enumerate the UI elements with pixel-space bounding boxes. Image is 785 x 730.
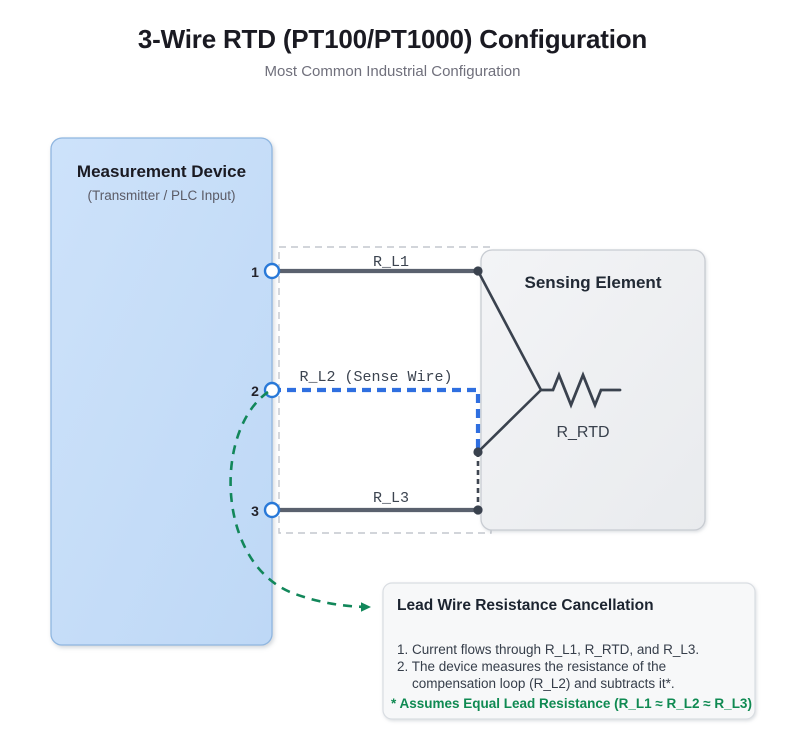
terminal-2-number: 2: [251, 383, 259, 399]
callout-step-2: 2. The device measures the resistance of…: [397, 659, 666, 674]
measurement-device-subtitle: (Transmitter / PLC Input): [87, 188, 235, 203]
diagram-canvas: 3-Wire RTD (PT100/PT1000) Configuration …: [0, 0, 785, 730]
sensing-element-box: Sensing Element: [481, 250, 705, 530]
wire-l1: R_L1: [272, 254, 478, 271]
junction-node-bottom: [473, 505, 482, 514]
junction-node-top: [473, 266, 482, 275]
wire-l3-label: R_L3: [373, 490, 409, 507]
callout-assumption-note: * Assumes Equal Lead Resistance (R_L1 ≈ …: [391, 696, 752, 711]
wire-l1-label: R_L1: [373, 254, 409, 271]
callout-title: Lead Wire Resistance Cancellation: [397, 597, 654, 614]
terminal-1-number: 1: [251, 264, 259, 280]
callout-step-1: 1. Current flows through R_L1, R_RTD, an…: [397, 642, 699, 657]
wire-l2-label: R_L2 (Sense Wire): [299, 369, 452, 386]
callout-box: Lead Wire Resistance Cancellation 1. Cur…: [383, 583, 755, 719]
rtd-resistor-label: R_RTD: [556, 424, 609, 441]
junction-node-mid: [473, 447, 482, 456]
terminal-3-number: 3: [251, 503, 259, 519]
measurement-device-title: Measurement Device: [77, 162, 246, 181]
wire-l3: R_L3: [272, 490, 478, 510]
rtd-wiring-diagram: Measurement Device (Transmitter / PLC In…: [0, 0, 785, 730]
measurement-device-box: Measurement Device (Transmitter / PLC In…: [51, 138, 272, 645]
wire-l2-sense: R_L2 (Sense Wire): [272, 369, 478, 452]
sensing-element-title: Sensing Element: [525, 273, 662, 292]
callout-step-3: compensation loop (R_L2) and subtracts i…: [397, 676, 675, 691]
